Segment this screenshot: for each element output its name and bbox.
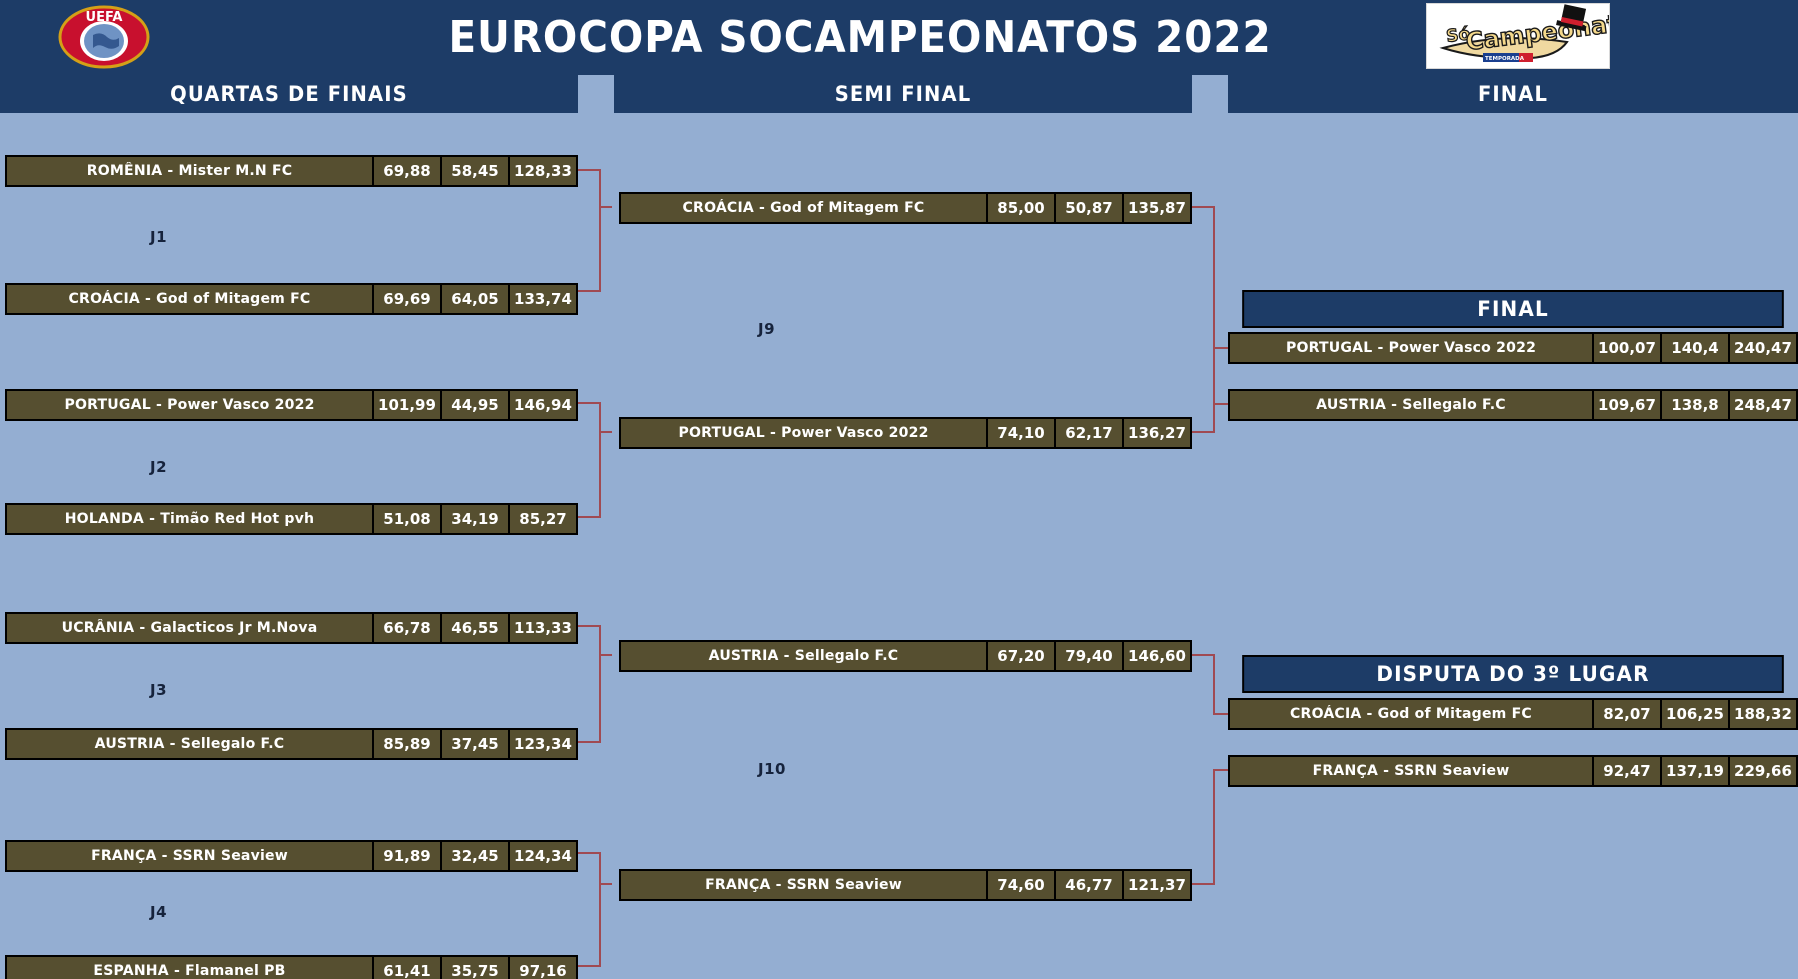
final-row-1[interactable]: PORTUGAL - Power Vasco 2022100,07140,424… xyxy=(1228,332,1798,364)
semifinal-j10-row-1-score-total: 146,60 xyxy=(1122,642,1190,670)
quarterfinal-j2-row-2-score-1: 51,08 xyxy=(372,505,440,533)
quarterfinal-j3-row-1[interactable]: UCRÂNIA - Galacticos Jr M.Nova66,7846,55… xyxy=(5,612,578,644)
quarterfinal-j1-row-2-team: CROÁCIA - God of Mitagem FC xyxy=(12,285,366,313)
semifinal-j10-row-2-score-1: 74,60 xyxy=(986,871,1054,899)
quarterfinal-j3-row-2-score-1: 85,89 xyxy=(372,730,440,758)
final-row-1-score-total: 240,47 xyxy=(1728,334,1796,362)
third-place-row-1-team: CROÁCIA - God of Mitagem FC xyxy=(1235,700,1586,728)
quarterfinal-j1-row-1-score-1: 69,88 xyxy=(372,157,440,185)
quarterfinal-j4-row-1-team: FRANÇA - SSRN Seaview xyxy=(12,842,366,870)
phase-label-semifinal: SEMI FINAL xyxy=(634,75,1172,113)
semifinal-j9-row-2-score-2: 62,17 xyxy=(1054,419,1122,447)
page-title: EUROCOPA SOCAMPEONATOS 2022 xyxy=(345,0,1375,75)
match-label-j2: J2 xyxy=(150,458,167,476)
final-row-1-score-1: 100,07 xyxy=(1592,334,1660,362)
quarterfinal-j3-row-2[interactable]: AUSTRIA - Sellegalo F.C85,8937,45123,34 xyxy=(5,728,578,760)
quarterfinal-j2-row-1-team: PORTUGAL - Power Vasco 2022 xyxy=(12,391,366,419)
match-label-j10: J10 xyxy=(758,760,786,778)
phase-header-final: FINAL xyxy=(1228,75,1798,113)
match-label-j3: J3 xyxy=(150,681,167,699)
quarterfinal-j2-row-1[interactable]: PORTUGAL - Power Vasco 2022101,9944,9514… xyxy=(5,389,578,421)
final-row-2-score-2: 138,8 xyxy=(1660,391,1728,419)
phase-header-semifinal: SEMI FINAL xyxy=(614,75,1192,113)
quarterfinal-j3-row-1-score-1: 66,78 xyxy=(372,614,440,642)
third-place-row-1-score-total: 188,32 xyxy=(1728,700,1796,728)
third-place-row-2-score-1: 92,47 xyxy=(1592,757,1660,785)
quarterfinal-j2-row-1-score-total: 146,94 xyxy=(508,391,576,419)
semifinal-j9-row-2[interactable]: PORTUGAL - Power Vasco 202274,1062,17136… xyxy=(619,417,1192,449)
quarterfinal-j4-row-1[interactable]: FRANÇA - SSRN Seaview91,8932,45124,34 xyxy=(5,840,578,872)
match-label-j4: J4 xyxy=(150,903,167,921)
semifinal-j10-row-1[interactable]: AUSTRIA - Sellegalo F.C67,2079,40146,60 xyxy=(619,640,1192,672)
semifinal-j9-row-1-team: CROÁCIA - God of Mitagem FC xyxy=(626,194,980,222)
quarterfinal-j1-row-1-score-2: 58,45 xyxy=(440,157,508,185)
quarterfinal-j3-row-1-score-2: 46,55 xyxy=(440,614,508,642)
quarterfinal-j4-row-2-score-total: 97,16 xyxy=(508,957,576,979)
bracket-page: UEFA EUROCOPA SOCAMPEONATOS 2022 Só Camp… xyxy=(0,0,1798,979)
quarterfinal-j3-row-1-score-total: 113,33 xyxy=(508,614,576,642)
quarterfinal-j1-row-2-score-total: 133,74 xyxy=(508,285,576,313)
quarterfinal-j1-row-1-score-total: 128,33 xyxy=(508,157,576,185)
third-place-row-2[interactable]: FRANÇA - SSRN Seaview92,47137,19229,66 xyxy=(1228,755,1798,787)
quarterfinal-j4-row-2-team: ESPANHA - Flamanel PB xyxy=(12,957,366,979)
quarterfinal-j1-row-2[interactable]: CROÁCIA - God of Mitagem FC69,6964,05133… xyxy=(5,283,578,315)
sponsor-logo: Só Campeonatos TEMPORADA xyxy=(1426,3,1610,69)
semifinal-j10-row-2[interactable]: FRANÇA - SSRN Seaview74,6046,77121,37 xyxy=(619,869,1192,901)
quarterfinal-j1-row-2-score-2: 64,05 xyxy=(440,285,508,313)
third-place-row-1-score-1: 82,07 xyxy=(1592,700,1660,728)
quarterfinal-j2-row-1-score-1: 101,99 xyxy=(372,391,440,419)
third-place-row-1-score-2: 106,25 xyxy=(1660,700,1728,728)
quarterfinal-j2-row-2-score-2: 34,19 xyxy=(440,505,508,533)
quarterfinal-j1-row-1-team: ROMÊNIA - Mister M.N FC xyxy=(12,157,366,185)
quarterfinal-j2-row-2-team: HOLANDA - Timão Red Hot pvh xyxy=(12,505,366,533)
semifinal-j9-row-1[interactable]: CROÁCIA - God of Mitagem FC85,0050,87135… xyxy=(619,192,1192,224)
final-row-2[interactable]: AUSTRIA - Sellegalo F.C109,67138,8248,47 xyxy=(1228,389,1798,421)
quarterfinal-j2-row-2[interactable]: HOLANDA - Timão Red Hot pvh51,0834,1985,… xyxy=(5,503,578,535)
uefa-logo-icon: UEFA xyxy=(57,5,151,70)
final-row-2-team: AUSTRIA - Sellegalo F.C xyxy=(1235,391,1586,419)
semifinal-j10-row-1-score-2: 79,40 xyxy=(1054,642,1122,670)
match-label-j9: J9 xyxy=(758,320,775,338)
quarterfinal-j2-row-1-score-2: 44,95 xyxy=(440,391,508,419)
final-row-1-score-2: 140,4 xyxy=(1660,334,1728,362)
third-place-row-2-score-total: 229,66 xyxy=(1728,757,1796,785)
final-row-2-score-1: 109,67 xyxy=(1592,391,1660,419)
quarterfinal-j1-row-2-score-1: 69,69 xyxy=(372,285,440,313)
quarterfinal-j4-row-1-score-1: 91,89 xyxy=(372,842,440,870)
svg-text:UEFA: UEFA xyxy=(86,10,123,25)
svg-text:TEMPORADA: TEMPORADA xyxy=(1485,56,1525,62)
semifinal-j10-row-2-team: FRANÇA - SSRN Seaview xyxy=(626,871,980,899)
quarterfinal-j3-row-1-team: UCRÂNIA - Galacticos Jr M.Nova xyxy=(12,614,366,642)
final-row-2-score-total: 248,47 xyxy=(1728,391,1796,419)
quarterfinal-j3-row-2-score-total: 123,34 xyxy=(508,730,576,758)
third-place-row-2-score-2: 137,19 xyxy=(1660,757,1728,785)
quarterfinal-j3-row-2-score-2: 37,45 xyxy=(440,730,508,758)
final-row-1-team: PORTUGAL - Power Vasco 2022 xyxy=(1235,334,1586,362)
quarterfinal-j4-row-1-score-2: 32,45 xyxy=(440,842,508,870)
title-banner: UEFA EUROCOPA SOCAMPEONATOS 2022 Só Camp… xyxy=(0,0,1798,75)
quarterfinal-j4-row-2[interactable]: ESPANHA - Flamanel PB61,4135,7597,16 xyxy=(5,955,578,979)
third-place-row-2-team: FRANÇA - SSRN Seaview xyxy=(1235,757,1586,785)
semifinal-j9-row-1-score-2: 50,87 xyxy=(1054,194,1122,222)
phase-label-quarters: QUARTAS DE FINAIS xyxy=(20,75,558,113)
quarterfinal-j2-row-2-score-total: 85,27 xyxy=(508,505,576,533)
phase-label-final: FINAL xyxy=(1248,75,1778,113)
semifinal-j9-row-1-score-1: 85,00 xyxy=(986,194,1054,222)
match-label-j1: J1 xyxy=(150,228,167,246)
semifinal-j9-row-2-score-1: 74,10 xyxy=(986,419,1054,447)
quarterfinal-j4-row-1-score-total: 124,34 xyxy=(508,842,576,870)
quarterfinal-j1-row-1[interactable]: ROMÊNIA - Mister M.N FC69,8858,45128,33 xyxy=(5,155,578,187)
quarterfinal-j4-row-2-score-1: 61,41 xyxy=(372,957,440,979)
semifinal-j9-row-2-team: PORTUGAL - Power Vasco 2022 xyxy=(626,419,980,447)
bracket-connectors xyxy=(0,0,1798,979)
semifinal-j9-row-2-score-total: 136,27 xyxy=(1122,419,1190,447)
semifinal-j9-row-1-score-total: 135,87 xyxy=(1122,194,1190,222)
semifinal-j10-row-1-score-1: 67,20 xyxy=(986,642,1054,670)
final-block-title: FINAL xyxy=(1242,290,1784,328)
semifinal-j10-row-2-score-total: 121,37 xyxy=(1122,871,1190,899)
phase-header-quarters: QUARTAS DE FINAIS xyxy=(0,75,578,113)
semifinal-j10-row-1-team: AUSTRIA - Sellegalo F.C xyxy=(626,642,980,670)
third-place-row-1[interactable]: CROÁCIA - God of Mitagem FC82,07106,2518… xyxy=(1228,698,1798,730)
semifinal-j10-row-2-score-2: 46,77 xyxy=(1054,871,1122,899)
quarterfinal-j3-row-2-team: AUSTRIA - Sellegalo F.C xyxy=(12,730,366,758)
quarterfinal-j4-row-2-score-2: 35,75 xyxy=(440,957,508,979)
third-place-title: DISPUTA DO 3º LUGAR xyxy=(1242,655,1784,693)
